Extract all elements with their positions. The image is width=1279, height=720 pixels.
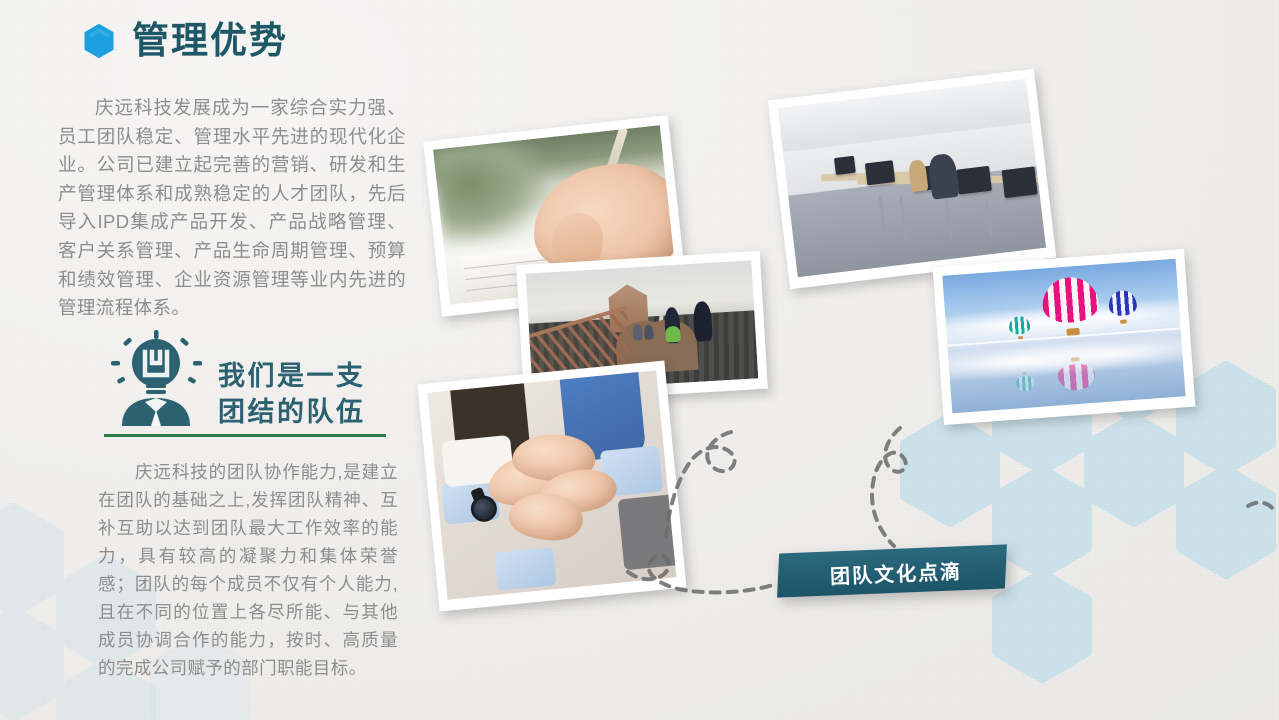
subtitle-line-1: 我们是一支 [218,358,366,394]
hexagon-icon [84,24,114,58]
photo-office-lab[interactable] [768,69,1057,289]
photo-balloons[interactable] [933,249,1196,425]
subtitle-block: 我们是一支 团结的队伍 [218,358,366,430]
slide-canvas: 管理优势 庆远科技发展成为一家综合实力强、员工团队稳定、管理水平先进的现代化企业… [0,0,1279,720]
photo-team-hands[interactable] [417,360,686,611]
photo-team-hands-image [427,370,676,599]
photo-office-lab-image [778,79,1046,277]
slide-header: 管理优势 [84,22,288,59]
intro-paragraph: 庆远科技发展成为一家综合实力强、员工团队稳定、管理水平先进的现代化企业。公司已建… [58,94,406,323]
subtitle-line-2: 团结的队伍 [218,394,366,430]
photo-balloons-image [942,259,1185,414]
teamwork-paragraph: 庆远科技的团队协作能力,是建立在团队的基础之上,发挥团队精神、互补互助以达到团队… [98,458,398,682]
lightbulb-head-person-icon [104,330,208,426]
page-title: 管理优势 [132,22,288,59]
subtitle-divider [104,434,386,437]
